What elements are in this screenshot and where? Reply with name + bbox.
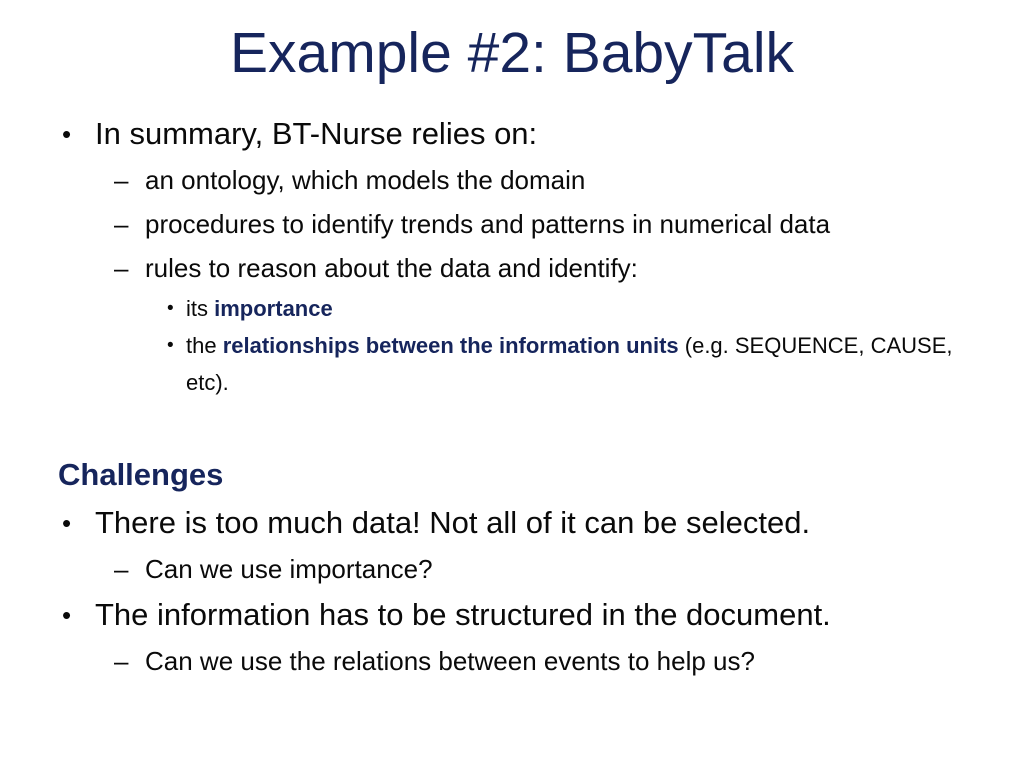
bullet-text: procedures to identify trends and patter… (145, 209, 830, 239)
bullet-text: rules to reason about the data and ident… (145, 253, 638, 283)
bullet-text: The information has to be structured in … (95, 597, 831, 632)
bullet-item-summary-intro: • In summary, BT-Nurse relies on: (0, 110, 1024, 158)
bullet-marker-level1: • (62, 499, 86, 547)
bullet-text-prefix: its (186, 296, 214, 321)
slide: Example #2: BabyTalk • In summary, BT-Nu… (0, 0, 1024, 768)
bullet-item-too-much-data: • There is too much data! Not all of it … (0, 499, 1024, 547)
bullet-text-prefix: the (186, 333, 223, 358)
bullet-text: In summary, BT-Nurse relies on: (95, 116, 537, 151)
slide-body: • In summary, BT-Nurse relies on: – an o… (0, 110, 1024, 683)
bullet-text: There is too much data! Not all of it ca… (95, 505, 810, 540)
bullet-marker-level2: – (114, 202, 138, 246)
bullet-marker-level2: – (114, 246, 138, 290)
bullet-marker-level3: • (167, 290, 187, 327)
bullet-item-procedures: – procedures to identify trends and patt… (0, 202, 1024, 246)
bullet-item-structured-document: • The information has to be structured i… (0, 591, 1024, 639)
bullet-item-its-importance: • its importance (0, 290, 1024, 327)
bullet-marker-level1: • (62, 110, 86, 158)
bullet-item-ontology: – an ontology, which models the domain (0, 158, 1024, 202)
bullet-text-emphasis: importance (214, 296, 333, 321)
bullet-marker-level2: – (114, 158, 138, 202)
bullet-text: Can we use importance? (145, 554, 433, 584)
bullet-text: an ontology, which models the domain (145, 165, 585, 195)
bullet-item-use-relations: – Can we use the relations between event… (0, 639, 1024, 683)
bullet-text: Can we use the relations between events … (145, 646, 755, 676)
page-title: Example #2: BabyTalk (0, 22, 1024, 84)
bullet-marker-level1: • (62, 591, 86, 639)
bullet-item-use-importance: – Can we use importance? (0, 547, 1024, 591)
bullet-text-emphasis: relationships between the information un… (223, 333, 679, 358)
section-heading-challenges: Challenges (0, 451, 1024, 499)
bullet-marker-level2: – (114, 639, 138, 683)
bullet-item-relationships: • the relationships between the informat… (0, 327, 1024, 401)
bullet-item-rules: – rules to reason about the data and ide… (0, 246, 1024, 290)
bullet-marker-level3: • (167, 327, 187, 364)
blank-line-spacer (0, 401, 1024, 451)
section-heading-label: Challenges (58, 457, 223, 492)
bullet-marker-level2: – (114, 547, 138, 591)
